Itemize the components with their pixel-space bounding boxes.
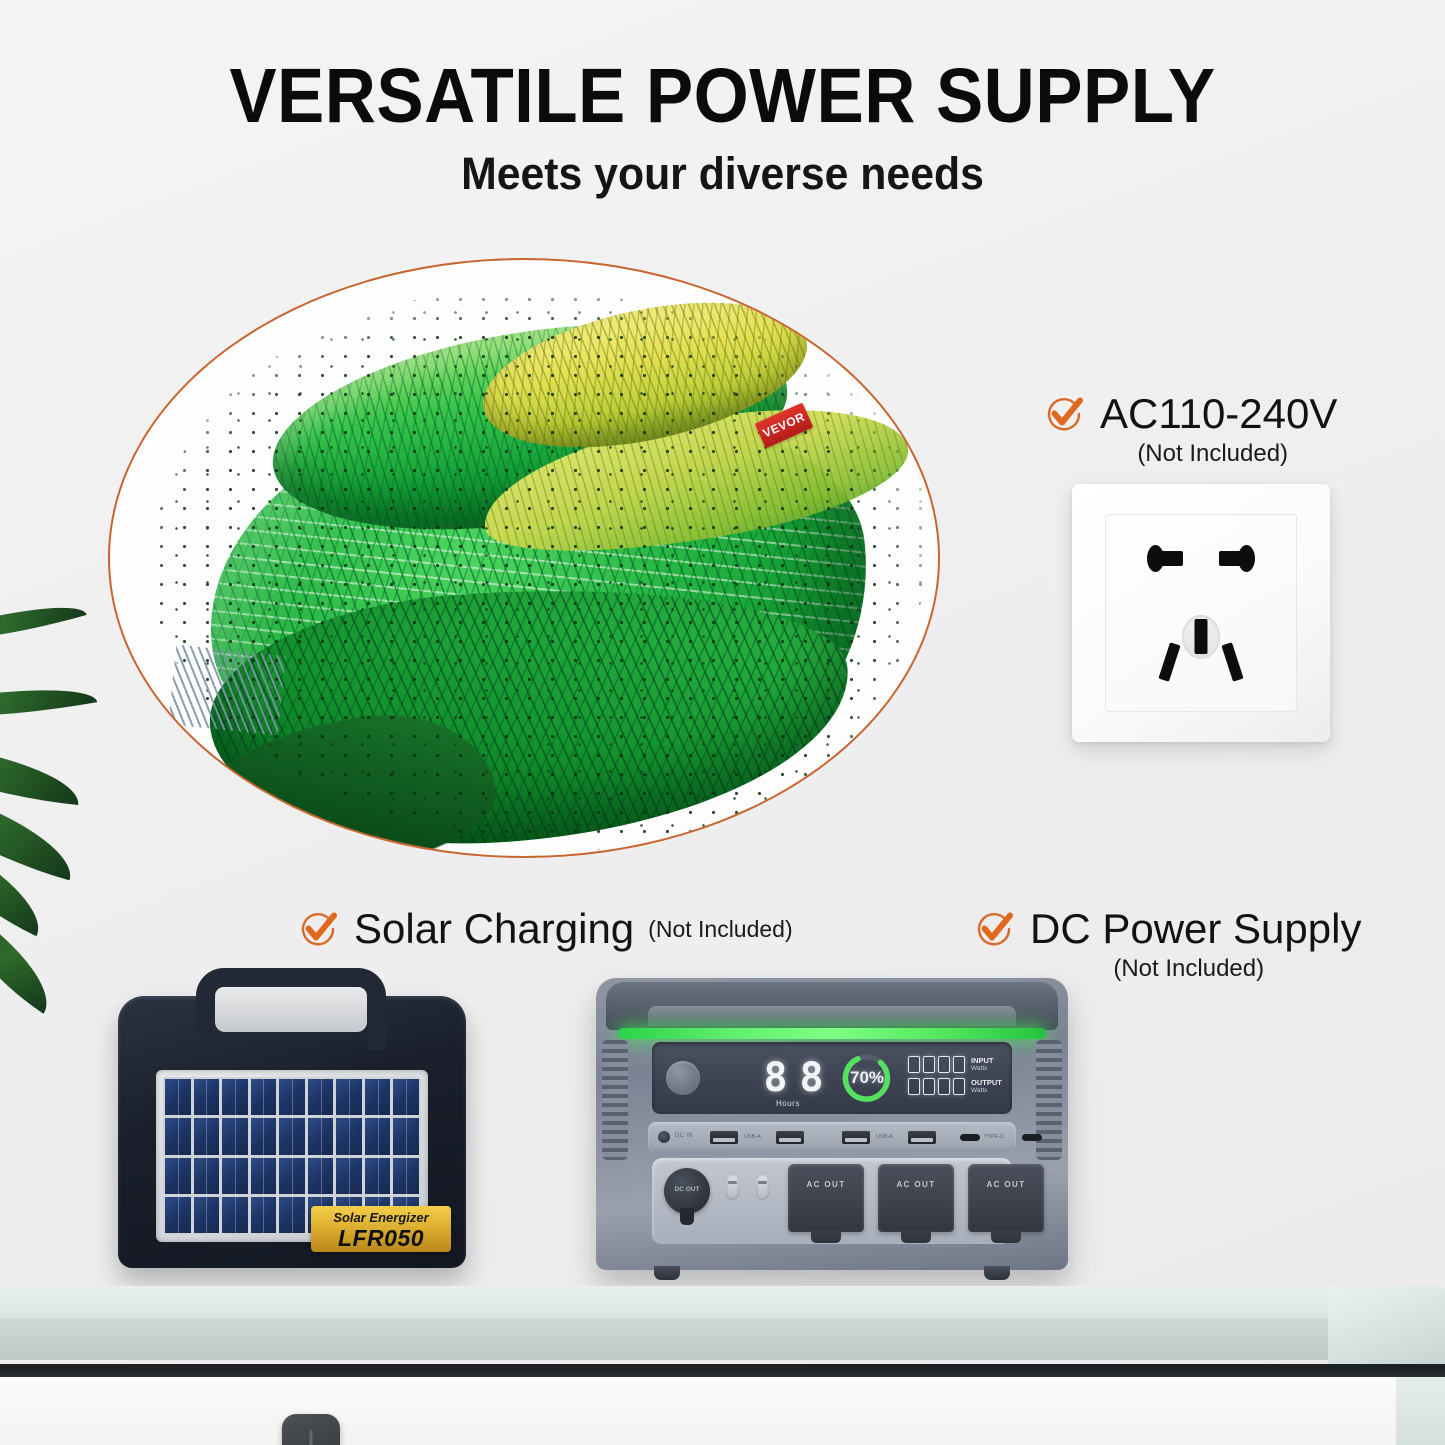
feature-dc-title: DC Power Supply — [1030, 905, 1361, 953]
ac-out-label: AC OUT — [968, 1180, 1044, 1189]
solar-cell — [194, 1197, 220, 1233]
ac-out-socket[interactable]: AC OUT — [788, 1164, 864, 1232]
input-unit: Watts — [971, 1065, 994, 1073]
product-infographic: VERSATILE POWER SUPPLY Meets your divers… — [0, 0, 1445, 1445]
countertop-edge — [0, 1318, 1445, 1360]
outlet-slot-bottom-left — [1158, 642, 1180, 682]
solar-cell — [336, 1079, 362, 1115]
solar-cell — [365, 1079, 391, 1115]
display-output-row: OUTPUT Watts — [908, 1078, 1002, 1095]
outlet-slot-top-left — [1153, 551, 1183, 566]
output-unit: Watts — [971, 1087, 1002, 1095]
outlet-slot-top-right — [1219, 551, 1249, 566]
solar-cell — [393, 1118, 419, 1154]
power-button[interactable] — [666, 1061, 700, 1095]
feature-ac-title: AC110-240V — [1100, 390, 1337, 438]
output-label: OUTPUT — [971, 1078, 1002, 1087]
cabinet-drawer-front — [0, 1377, 1445, 1445]
solar-cell — [308, 1079, 334, 1115]
solar-cell — [251, 1118, 277, 1154]
station-display-screen: 8 8 Hours 70% INPUT Watts — [652, 1042, 1012, 1114]
station-foot — [984, 1266, 1010, 1280]
solar-cell — [222, 1197, 248, 1233]
feature-solar-charging: Solar Charging (Not Included) — [296, 905, 793, 953]
usb-a-port[interactable] — [776, 1131, 804, 1144]
solar-badge-line2: LFR050 — [311, 1227, 451, 1250]
ac-out-socket[interactable]: AC OUT — [878, 1164, 954, 1232]
solar-cell — [308, 1158, 334, 1194]
display-io-readouts: INPUT Watts OUTPUT Watts — [908, 1056, 1002, 1100]
usb-a-port[interactable] — [710, 1131, 738, 1144]
station-foot — [654, 1266, 680, 1280]
solar-cell — [251, 1079, 277, 1115]
wall-outlet — [1072, 484, 1330, 742]
page-subtitle: Meets your diverse needs — [36, 148, 1409, 200]
outlet-slot-ground — [1195, 619, 1208, 654]
cabinet-handle[interactable] — [282, 1414, 340, 1445]
station-vent-right — [1036, 1040, 1062, 1160]
battery-percent-text: 70% — [840, 1051, 894, 1105]
feature-solar-note: (Not Included) — [648, 916, 792, 943]
netting-photo-oval: VEVOR — [108, 258, 940, 858]
solar-cell — [251, 1158, 277, 1194]
usb-a-port[interactable] — [842, 1131, 870, 1144]
solar-cell — [279, 1079, 305, 1115]
usb-c-port[interactable] — [960, 1134, 980, 1141]
solar-cell — [222, 1118, 248, 1154]
solar-cell — [251, 1197, 277, 1233]
check-circle-icon — [1042, 392, 1086, 436]
solar-energizer-handle-grip — [215, 988, 367, 1032]
ac-out-label: AC OUT — [788, 1180, 864, 1189]
solar-cell — [222, 1079, 248, 1115]
output-digits — [908, 1078, 965, 1095]
outlet-slot-bottom-right — [1221, 642, 1243, 682]
solar-energizer-unit: Solar Energizer LFR050 — [118, 968, 466, 1268]
solar-cell — [393, 1079, 419, 1115]
solar-cell — [308, 1118, 334, 1154]
solar-cell — [165, 1118, 191, 1154]
solar-cell — [279, 1158, 305, 1194]
solar-cell — [165, 1079, 191, 1115]
station-usb-port-row: DC IN USB-A USB-A TYPE-C — [648, 1122, 1016, 1152]
solar-energizer-badge: Solar Energizer LFR050 — [311, 1206, 451, 1252]
outlet-faceplate — [1105, 514, 1297, 712]
runtime-digit: 8 — [798, 1056, 825, 1100]
runtime-digit: 8 — [762, 1056, 789, 1100]
solar-cell — [194, 1118, 220, 1154]
usb-a-label: USB-A — [876, 1134, 893, 1140]
solar-cell — [393, 1158, 419, 1194]
runtime-unit-label: Hours — [776, 1099, 800, 1108]
ac-out-label: AC OUT — [878, 1180, 954, 1189]
dc-out-label: DC OUT — [664, 1186, 710, 1193]
solar-cell — [165, 1158, 191, 1194]
usb-a-port[interactable] — [908, 1131, 936, 1144]
station-led-bar — [618, 1028, 1046, 1039]
cabinet-gap — [0, 1364, 1445, 1378]
feature-dc-power: DC Power Supply (Not Included) — [972, 905, 1361, 983]
cabinet-side-edge — [1396, 1377, 1445, 1445]
feature-ac-power: AC110-240V (Not Included) — [1042, 390, 1337, 468]
page-title: VERSATILE POWER SUPPLY — [58, 52, 1387, 141]
solar-cell — [279, 1118, 305, 1154]
solar-cell — [336, 1158, 362, 1194]
ac-out-socket[interactable]: AC OUT — [968, 1164, 1044, 1232]
feature-solar-title: Solar Charging — [354, 905, 634, 953]
solar-cell — [194, 1079, 220, 1115]
station-top-ridge — [648, 1006, 1016, 1026]
solar-cell — [365, 1118, 391, 1154]
solar-cell — [365, 1158, 391, 1194]
check-circle-icon — [972, 907, 1016, 951]
usb-c-label: TYPE-C — [984, 1134, 1004, 1140]
solar-cell — [222, 1158, 248, 1194]
solar-cell — [165, 1197, 191, 1233]
solar-cell — [194, 1158, 220, 1194]
solar-cell — [336, 1118, 362, 1154]
station-ac-panel: DC OUT AC OUT AC OUT AC OUT — [652, 1158, 1012, 1244]
usb-a-label: USB-A — [744, 1134, 761, 1140]
netting-wire-ends — [168, 644, 286, 735]
station-vent-left — [602, 1040, 628, 1160]
power-toggle-switch[interactable] — [726, 1174, 739, 1200]
input-label: INPUT — [971, 1056, 994, 1065]
portable-power-station: 8 8 Hours 70% INPUT Watts — [596, 978, 1068, 1278]
input-digits — [908, 1056, 965, 1073]
solar-cell — [279, 1197, 305, 1233]
display-runtime-digits: 8 8 — [762, 1056, 825, 1100]
display-input-row: INPUT Watts — [908, 1056, 1002, 1073]
check-circle-icon — [296, 907, 340, 951]
feature-ac-note: (Not Included) — [1042, 440, 1337, 468]
dc-out-port[interactable]: DC OUT — [664, 1168, 710, 1214]
dc-in-label: DC IN — [675, 1133, 693, 1139]
power-toggle-switch[interactable] — [756, 1174, 769, 1200]
dc-in-jack[interactable] — [658, 1131, 670, 1143]
usb-c-port[interactable] — [1022, 1134, 1042, 1141]
